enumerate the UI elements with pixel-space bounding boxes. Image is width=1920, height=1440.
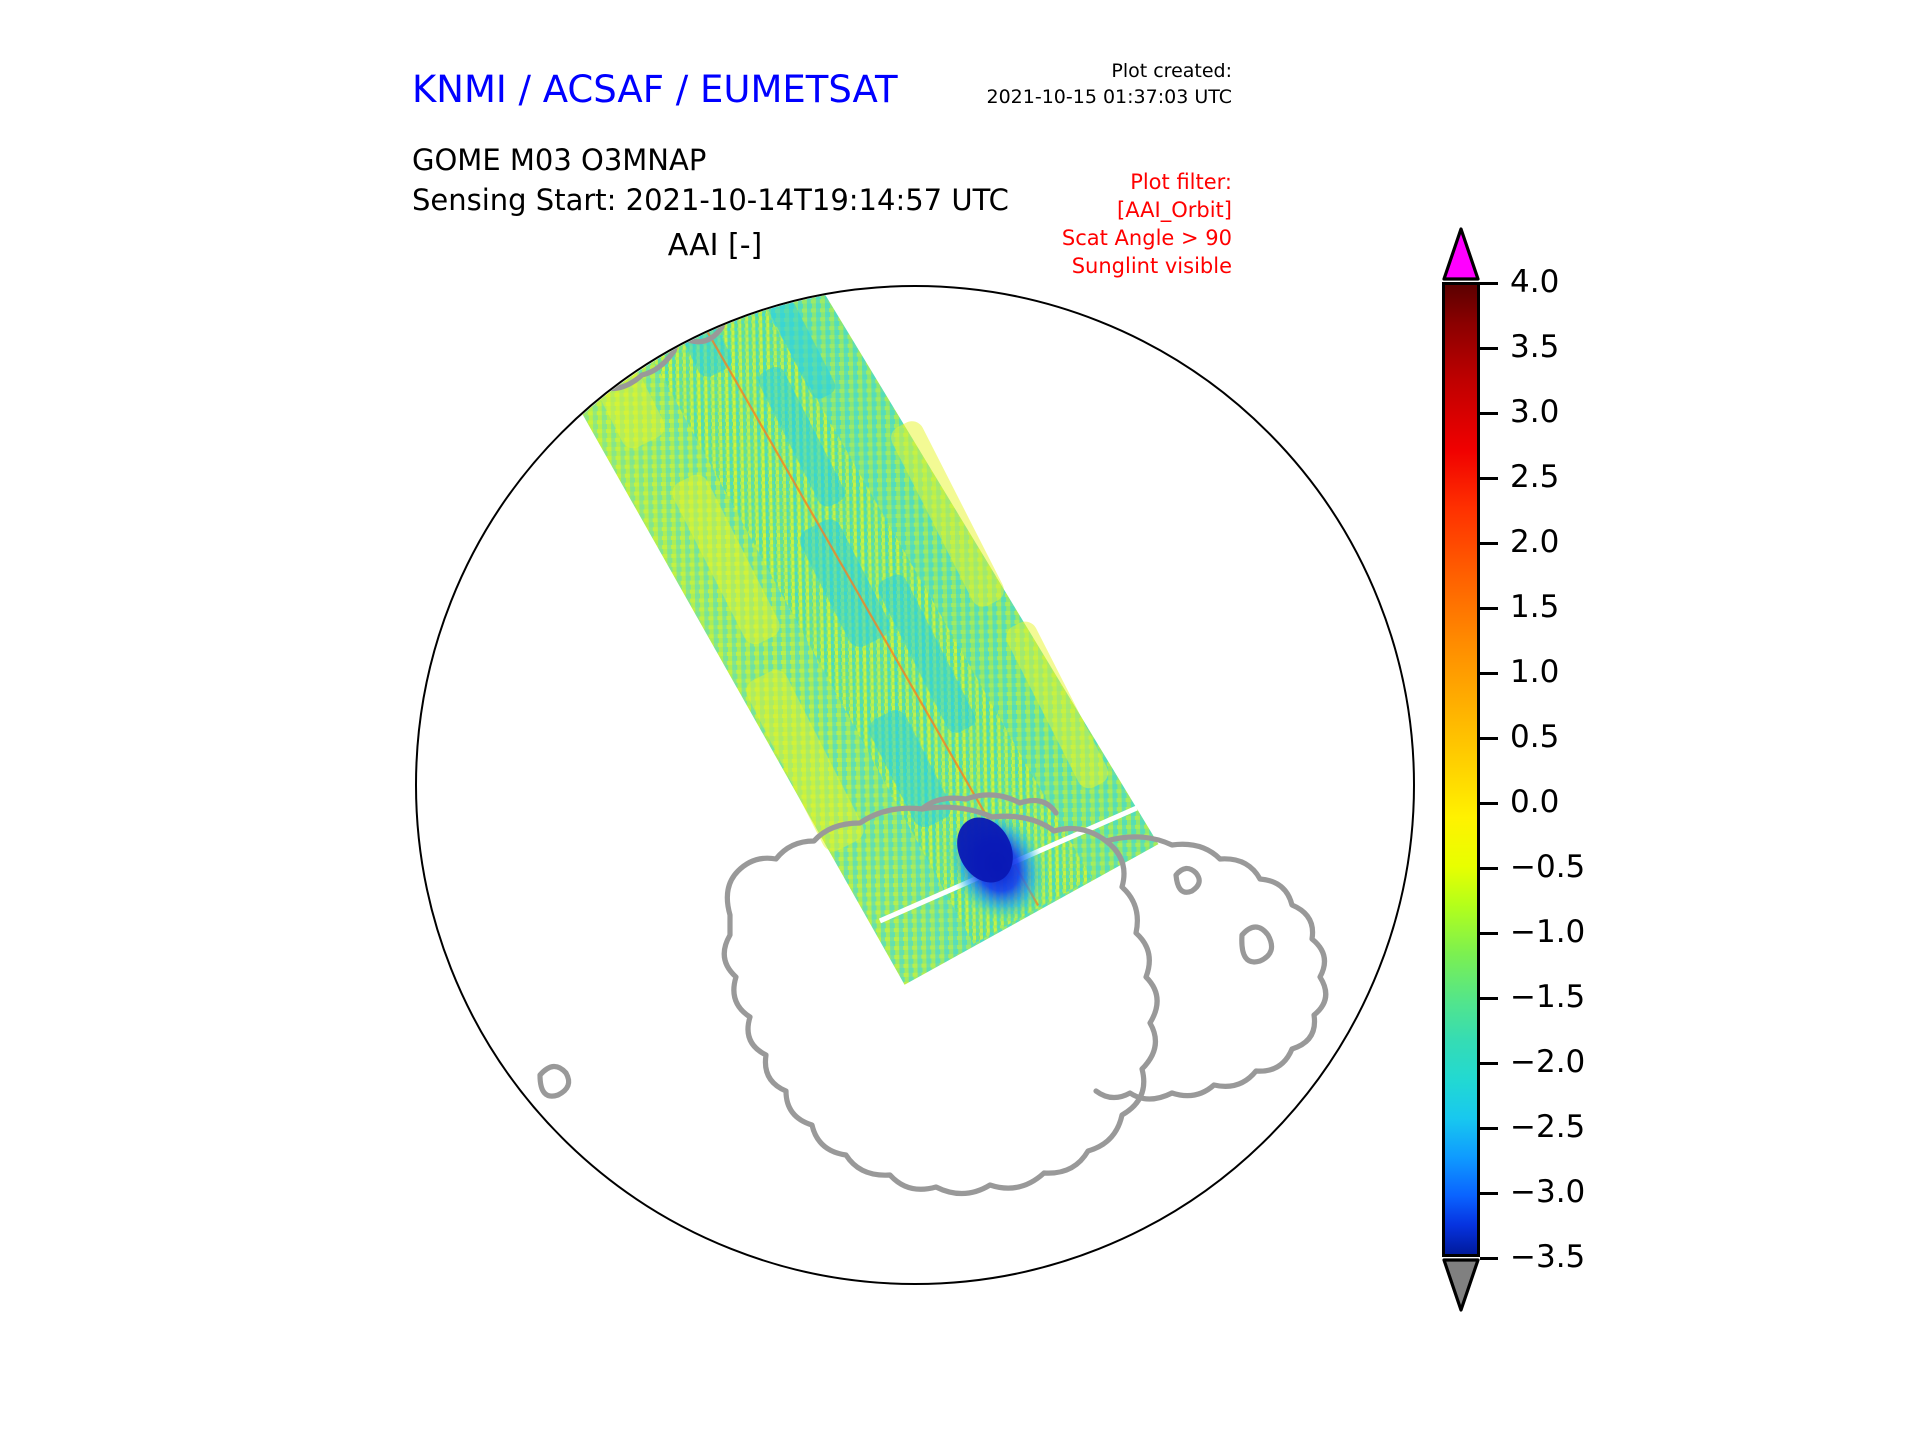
colorbar-tick-label: 3.0: [1510, 394, 1559, 430]
colorbar-tick-label: 1.0: [1510, 654, 1559, 690]
colorbar-tick-label: −1.0: [1510, 914, 1585, 950]
colorbar-tick-label: −2.0: [1510, 1044, 1585, 1080]
colorbar-tick-mark: [1480, 412, 1498, 415]
colorbar-tick-label: 4.0: [1510, 264, 1559, 300]
colorbar-tick-mark: [1480, 477, 1498, 480]
colorbar-tick-label: 1.5: [1510, 589, 1559, 625]
plot-created-block: Plot created: 2021-10-15 01:37:03 UTC: [812, 58, 1232, 110]
plot-created-value: 2021-10-15 01:37:03 UTC: [812, 84, 1232, 110]
colorbar-tick-label: 2.0: [1510, 524, 1559, 560]
plot-filter-block: Plot filter: [AAI_Orbit] Scat Angle > 90…: [812, 168, 1232, 280]
colorbar-tick-mark: [1480, 347, 1498, 350]
colorbar-tick-mark: [1480, 932, 1498, 935]
colorbar-tick-label: −3.5: [1510, 1239, 1585, 1275]
colorbar-tick-mark: [1480, 542, 1498, 545]
colorbar-tick-mark: [1480, 1192, 1498, 1195]
colorbar-tick-mark: [1480, 997, 1498, 1000]
satellite-swath: [501, 275, 1163, 1001]
colorbar-tick-mark: [1480, 672, 1498, 675]
colorbar-tick-label: −1.5: [1510, 979, 1585, 1015]
colorbar-tick-label: 2.5: [1510, 459, 1559, 495]
plot-created-label: Plot created:: [812, 58, 1232, 84]
plot-filter-label: Plot filter:: [812, 168, 1232, 196]
map-svg: [330, 275, 1440, 1385]
colorbar-tick-mark: [1480, 867, 1498, 870]
colorbar-tick-mark: [1480, 282, 1498, 285]
colorbar: 4.03.53.02.52.01.51.00.50.0−0.5−1.0−1.5−…: [1442, 282, 1742, 1302]
colorbar-tick-mark: [1480, 1127, 1498, 1130]
colorbar-under-arrow: [1441, 1257, 1481, 1313]
colorbar-over-arrow: [1441, 226, 1481, 282]
colorbar-tick-mark: [1480, 1257, 1498, 1260]
colorbar-tick-label: 0.0: [1510, 784, 1559, 820]
colorbar-tick-label: −0.5: [1510, 849, 1585, 885]
colorbar-tick-label: −3.0: [1510, 1174, 1585, 1210]
plot-filter-scat-angle: Scat Angle > 90: [812, 224, 1232, 252]
colorbar-tick-mark: [1480, 737, 1498, 740]
colorbar-tick-mark: [1480, 802, 1498, 805]
colorbar-tick-label: 3.5: [1510, 329, 1559, 365]
colorbar-tick-label: 0.5: [1510, 719, 1559, 755]
colorbar-tick-mark: [1480, 607, 1498, 610]
colorbar-gradient: [1442, 282, 1480, 1257]
map-plot-area: [330, 275, 1440, 1385]
plot-filter-name: [AAI_Orbit]: [812, 196, 1232, 224]
colorbar-tick-label: −2.5: [1510, 1109, 1585, 1145]
colorbar-tick-mark: [1480, 1062, 1498, 1065]
